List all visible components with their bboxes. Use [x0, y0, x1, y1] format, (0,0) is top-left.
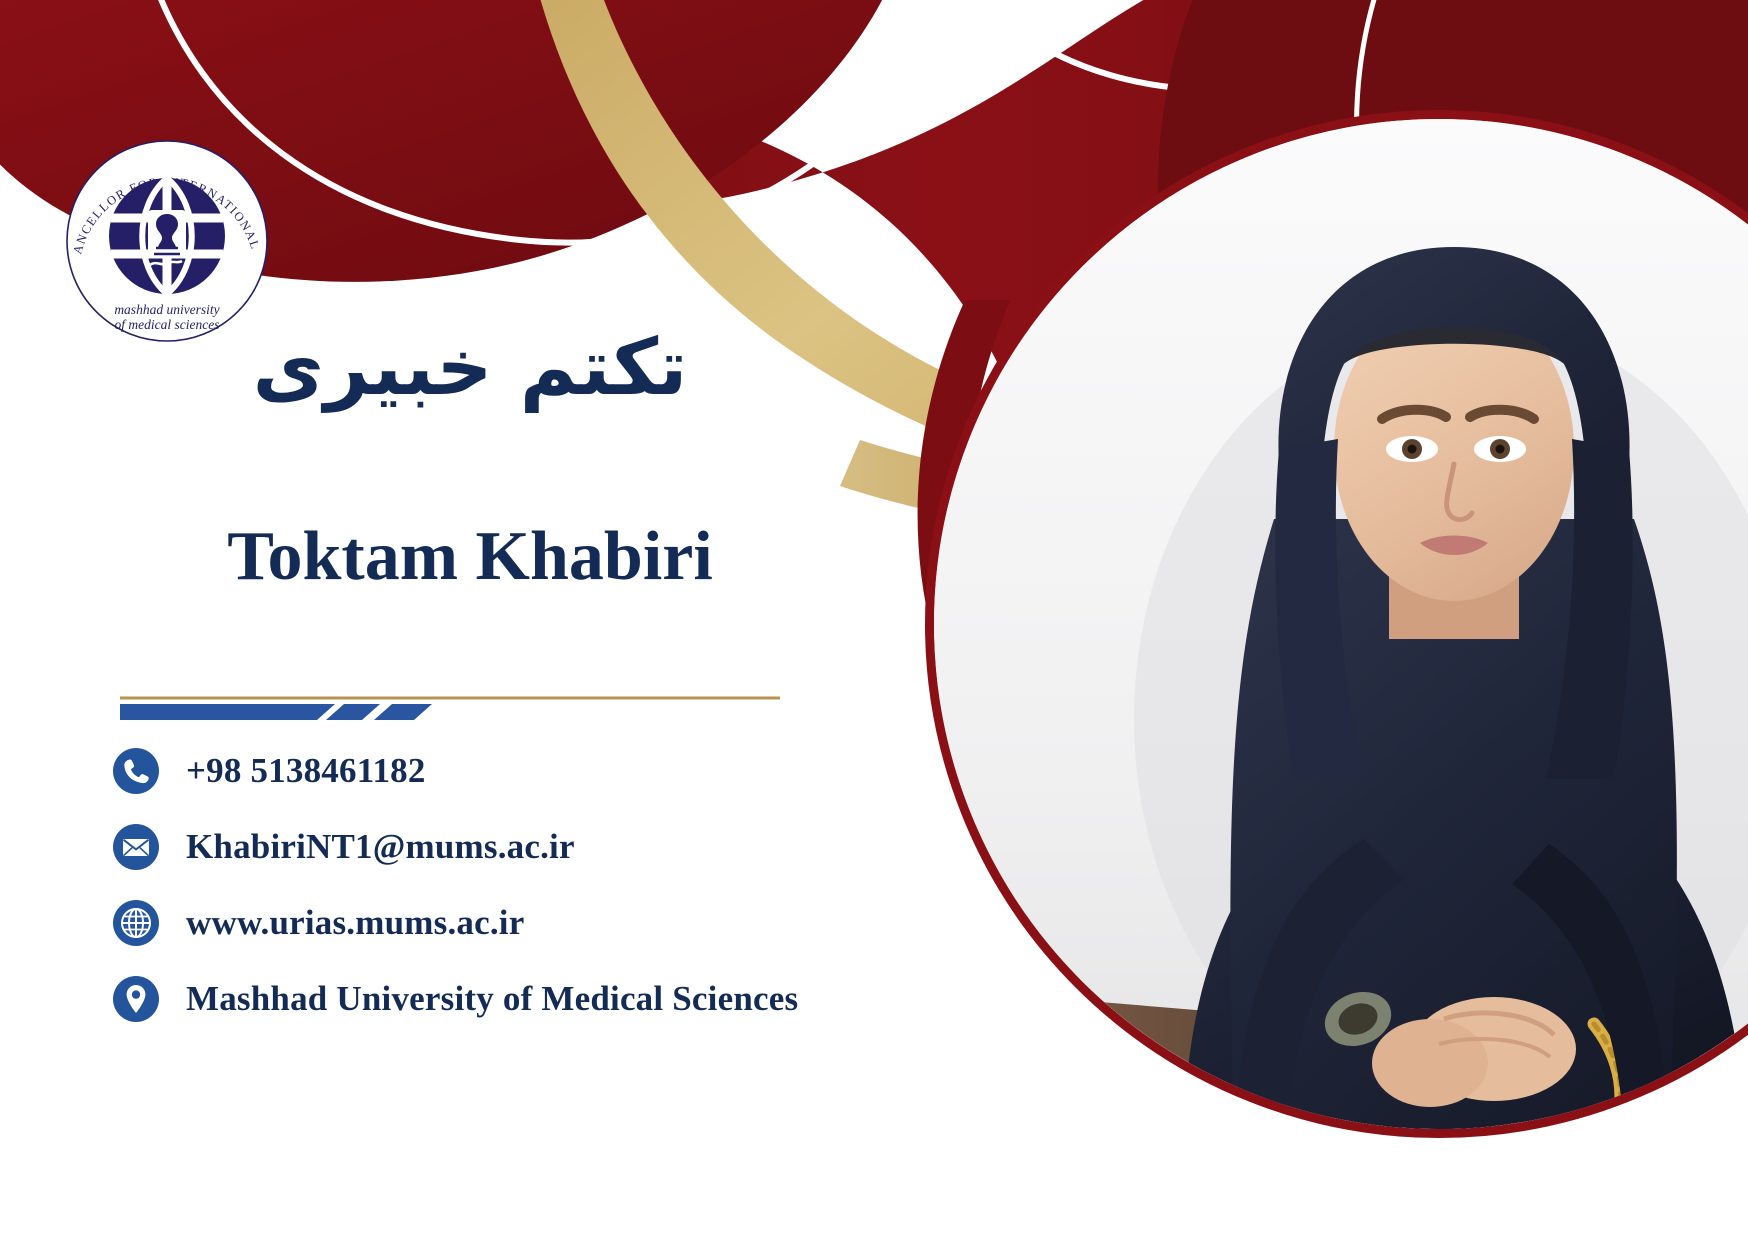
- contact-row-website[interactable]: www.urias.mums.ac.ir: [112, 886, 972, 960]
- contact-list: +98 5138461182 KhabiriNT1@mums.ac.ir: [112, 734, 972, 1038]
- email-icon: [112, 823, 160, 871]
- email-address-text: KhabiriNT1@mums.ac.ir: [186, 827, 575, 867]
- contact-row-email[interactable]: KhabiriNT1@mums.ac.ir: [112, 810, 972, 884]
- logo-line1: mashhad university: [114, 302, 219, 317]
- divider-ornament: [120, 694, 780, 730]
- business-card: VICE CHANCELLOR FOR INTERNATIONAL AFFAIR…: [0, 0, 1748, 1240]
- eye-left: [1386, 436, 1438, 462]
- phone-number-text: +98 5138461182: [186, 751, 426, 791]
- logo-emblem-icon: VICE CHANCELLOR FOR INTERNATIONAL AFFAIR…: [62, 136, 272, 346]
- globe-icon: [112, 899, 160, 947]
- portrait-photo: [934, 119, 1748, 1129]
- website-url-text: www.urias.mums.ac.ir: [186, 903, 524, 943]
- location-pin-icon: [112, 975, 160, 1023]
- divider-blue-bars: [120, 704, 432, 720]
- portrait-frame: [925, 110, 1748, 1138]
- university-logo: VICE CHANCELLOR FOR INTERNATIONAL AFFAIR…: [62, 136, 272, 346]
- contact-row-phone[interactable]: +98 5138461182: [112, 734, 972, 808]
- divider-icon: [120, 694, 780, 730]
- organization-name-text: Mashhad University of Medical Sciences: [186, 979, 798, 1019]
- person-name-english: Toktam Khabiri: [120, 518, 820, 595]
- logo-globe-icon: [109, 178, 225, 294]
- contact-row-address[interactable]: Mashhad University of Medical Sciences: [112, 962, 972, 1036]
- eye-right: [1474, 436, 1526, 462]
- wave-white-line-right: [960, 0, 1700, 90]
- portrait-illustration: [934, 119, 1748, 1129]
- person-name-persian: تکتم خبیری: [120, 322, 820, 414]
- phone-icon: [112, 747, 160, 795]
